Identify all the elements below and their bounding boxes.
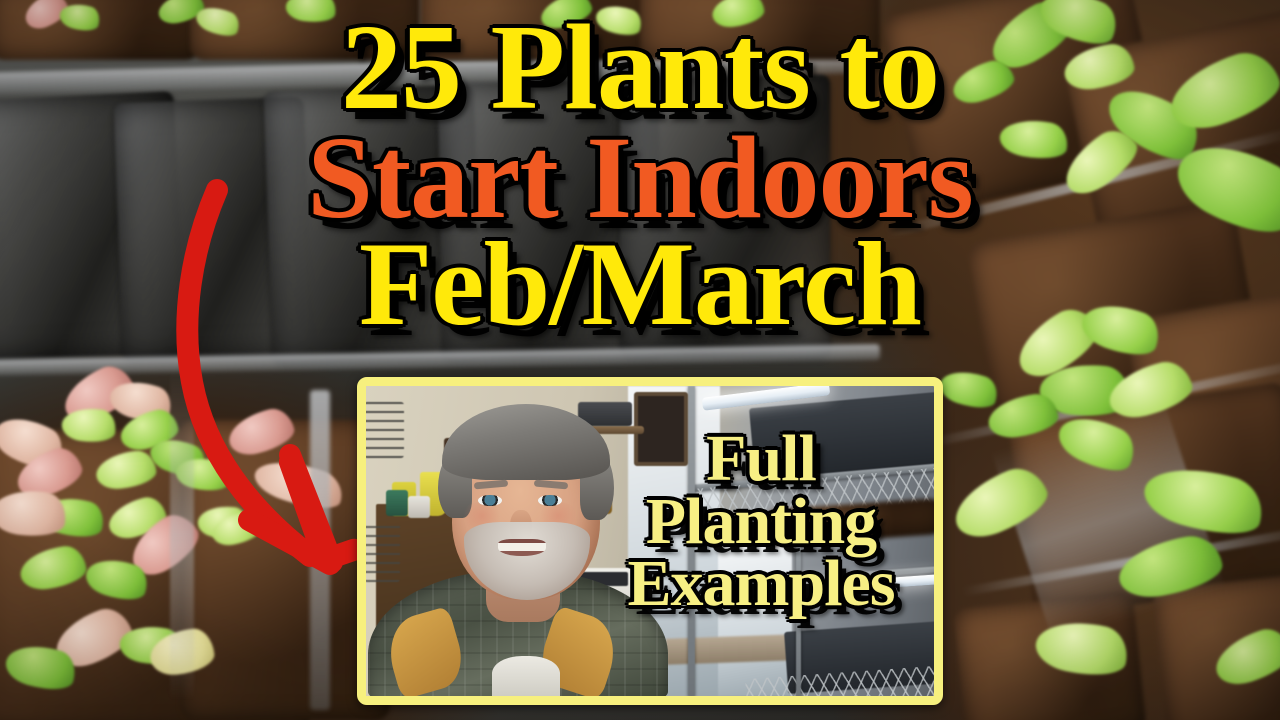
presenter-hair xyxy=(442,404,610,480)
video-thumbnail: 25 Plants to Start Indoors Feb/March xyxy=(0,0,1280,720)
overlay-caption: Full Planting Examples xyxy=(596,428,926,616)
presenter-eye xyxy=(478,495,502,506)
title-line-3: Feb/March xyxy=(0,225,1280,343)
presenter-video-frame: Full Planting Examples xyxy=(357,377,943,705)
title-line-1: 25 Plants to xyxy=(0,8,1280,128)
overlay-line-3: Examples xyxy=(596,553,926,616)
presenter-mouth xyxy=(498,539,546,556)
presenter-eye xyxy=(538,495,562,506)
main-title: 25 Plants to Start Indoors Feb/March xyxy=(0,8,1280,343)
overlay-line-2: Planting xyxy=(596,491,926,554)
overlay-line-1: Full xyxy=(596,428,926,491)
presenter-undershirt xyxy=(492,656,560,696)
